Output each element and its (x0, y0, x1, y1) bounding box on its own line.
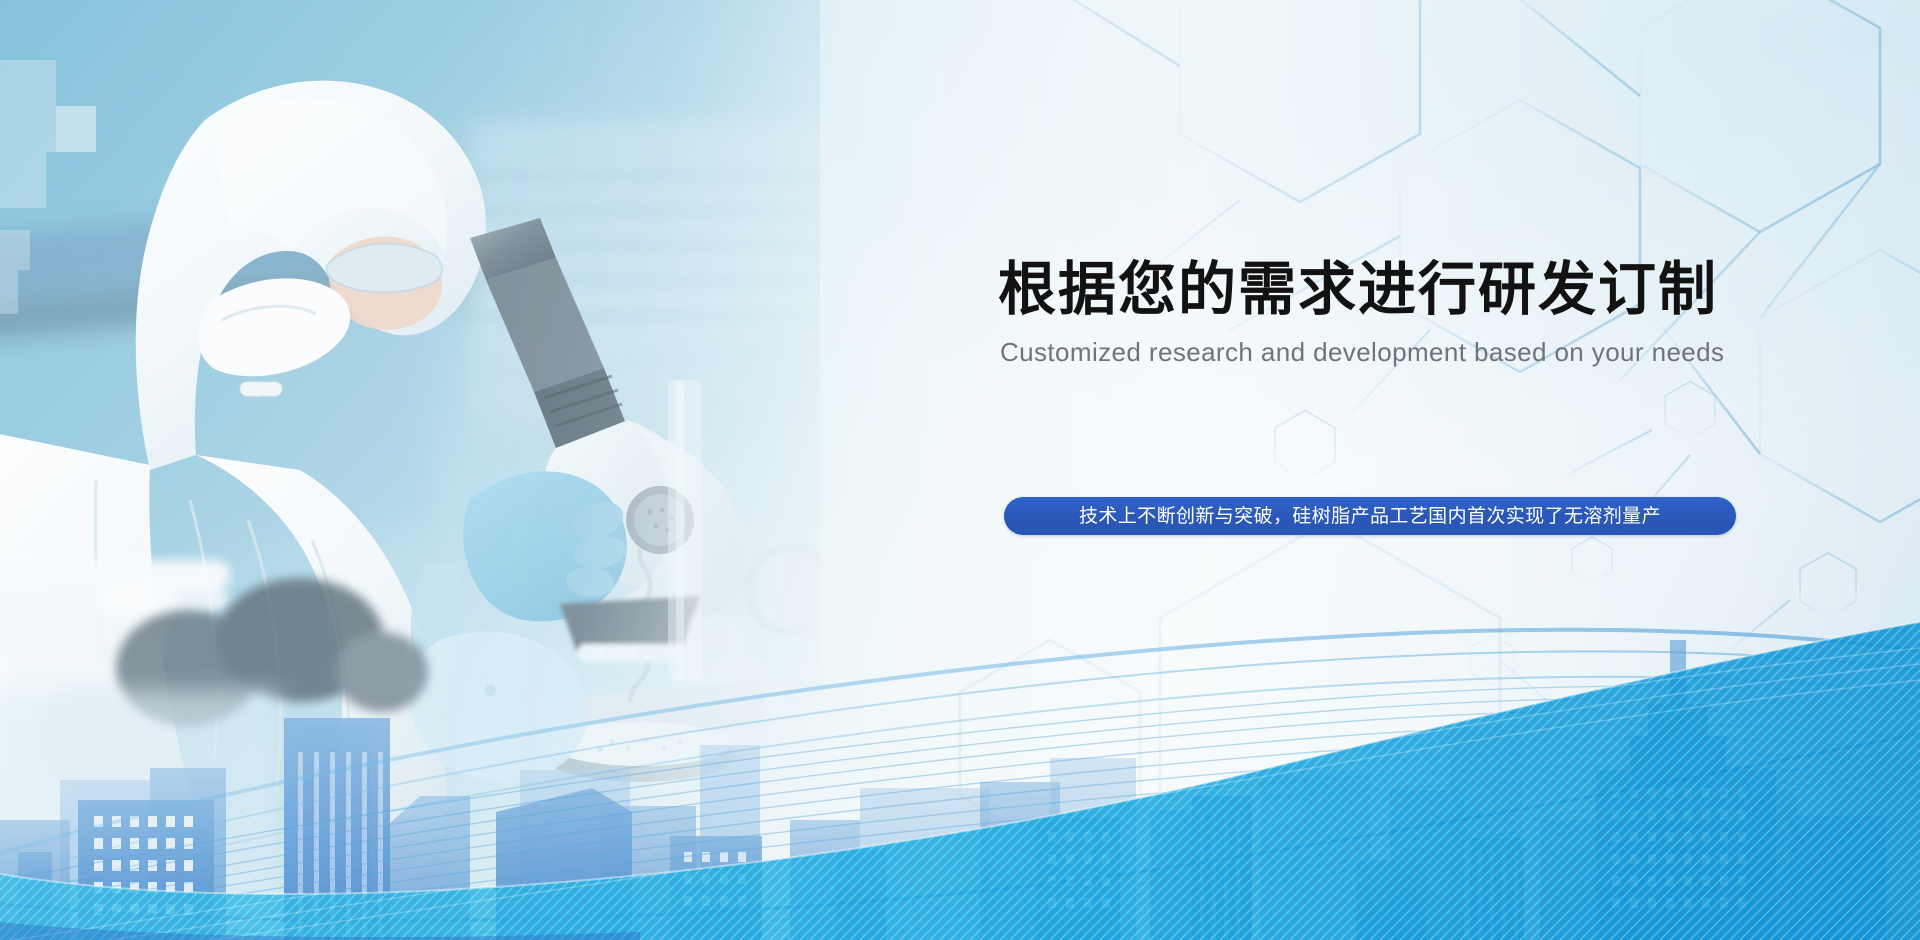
wave-ribbon-graphic (0, 470, 1920, 940)
hero-banner: 根据您的需求进行研发订制 Customized research and dev… (0, 0, 1920, 940)
highlight-badge: 技术上不断创新与突破，硅树脂产品工艺国内首次实现了无溶剂量产 (1004, 497, 1736, 535)
page-title: 根据您的需求进行研发订制 (998, 258, 1858, 320)
highlight-badge-label: 技术上不断创新与突破，硅树脂产品工艺国内首次实现了无溶剂量产 (1079, 507, 1661, 526)
page-subtitle: Customized research and development base… (1000, 336, 1858, 369)
banner-copy: 根据您的需求进行研发订制 Customized research and dev… (998, 258, 1858, 369)
decorative-pixel-blocks (0, 60, 180, 320)
